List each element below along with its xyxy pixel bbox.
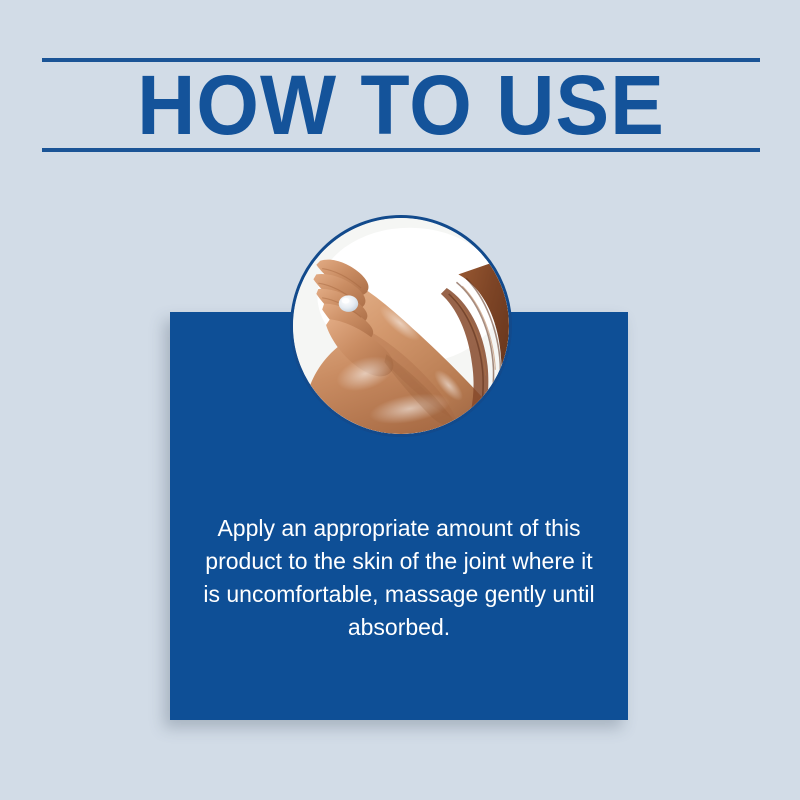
usage-photo-illustration <box>293 218 509 434</box>
instruction-text: Apply an appropriate amount of this prod… <box>198 512 600 644</box>
header-rule-bottom <box>42 148 760 152</box>
header-block: HOW TO USE <box>42 58 760 154</box>
usage-photo-circle <box>290 215 512 437</box>
poster-canvas: HOW TO USE Apply an appropriate amount o… <box>0 0 800 800</box>
page-title: HOW TO USE <box>56 58 745 152</box>
